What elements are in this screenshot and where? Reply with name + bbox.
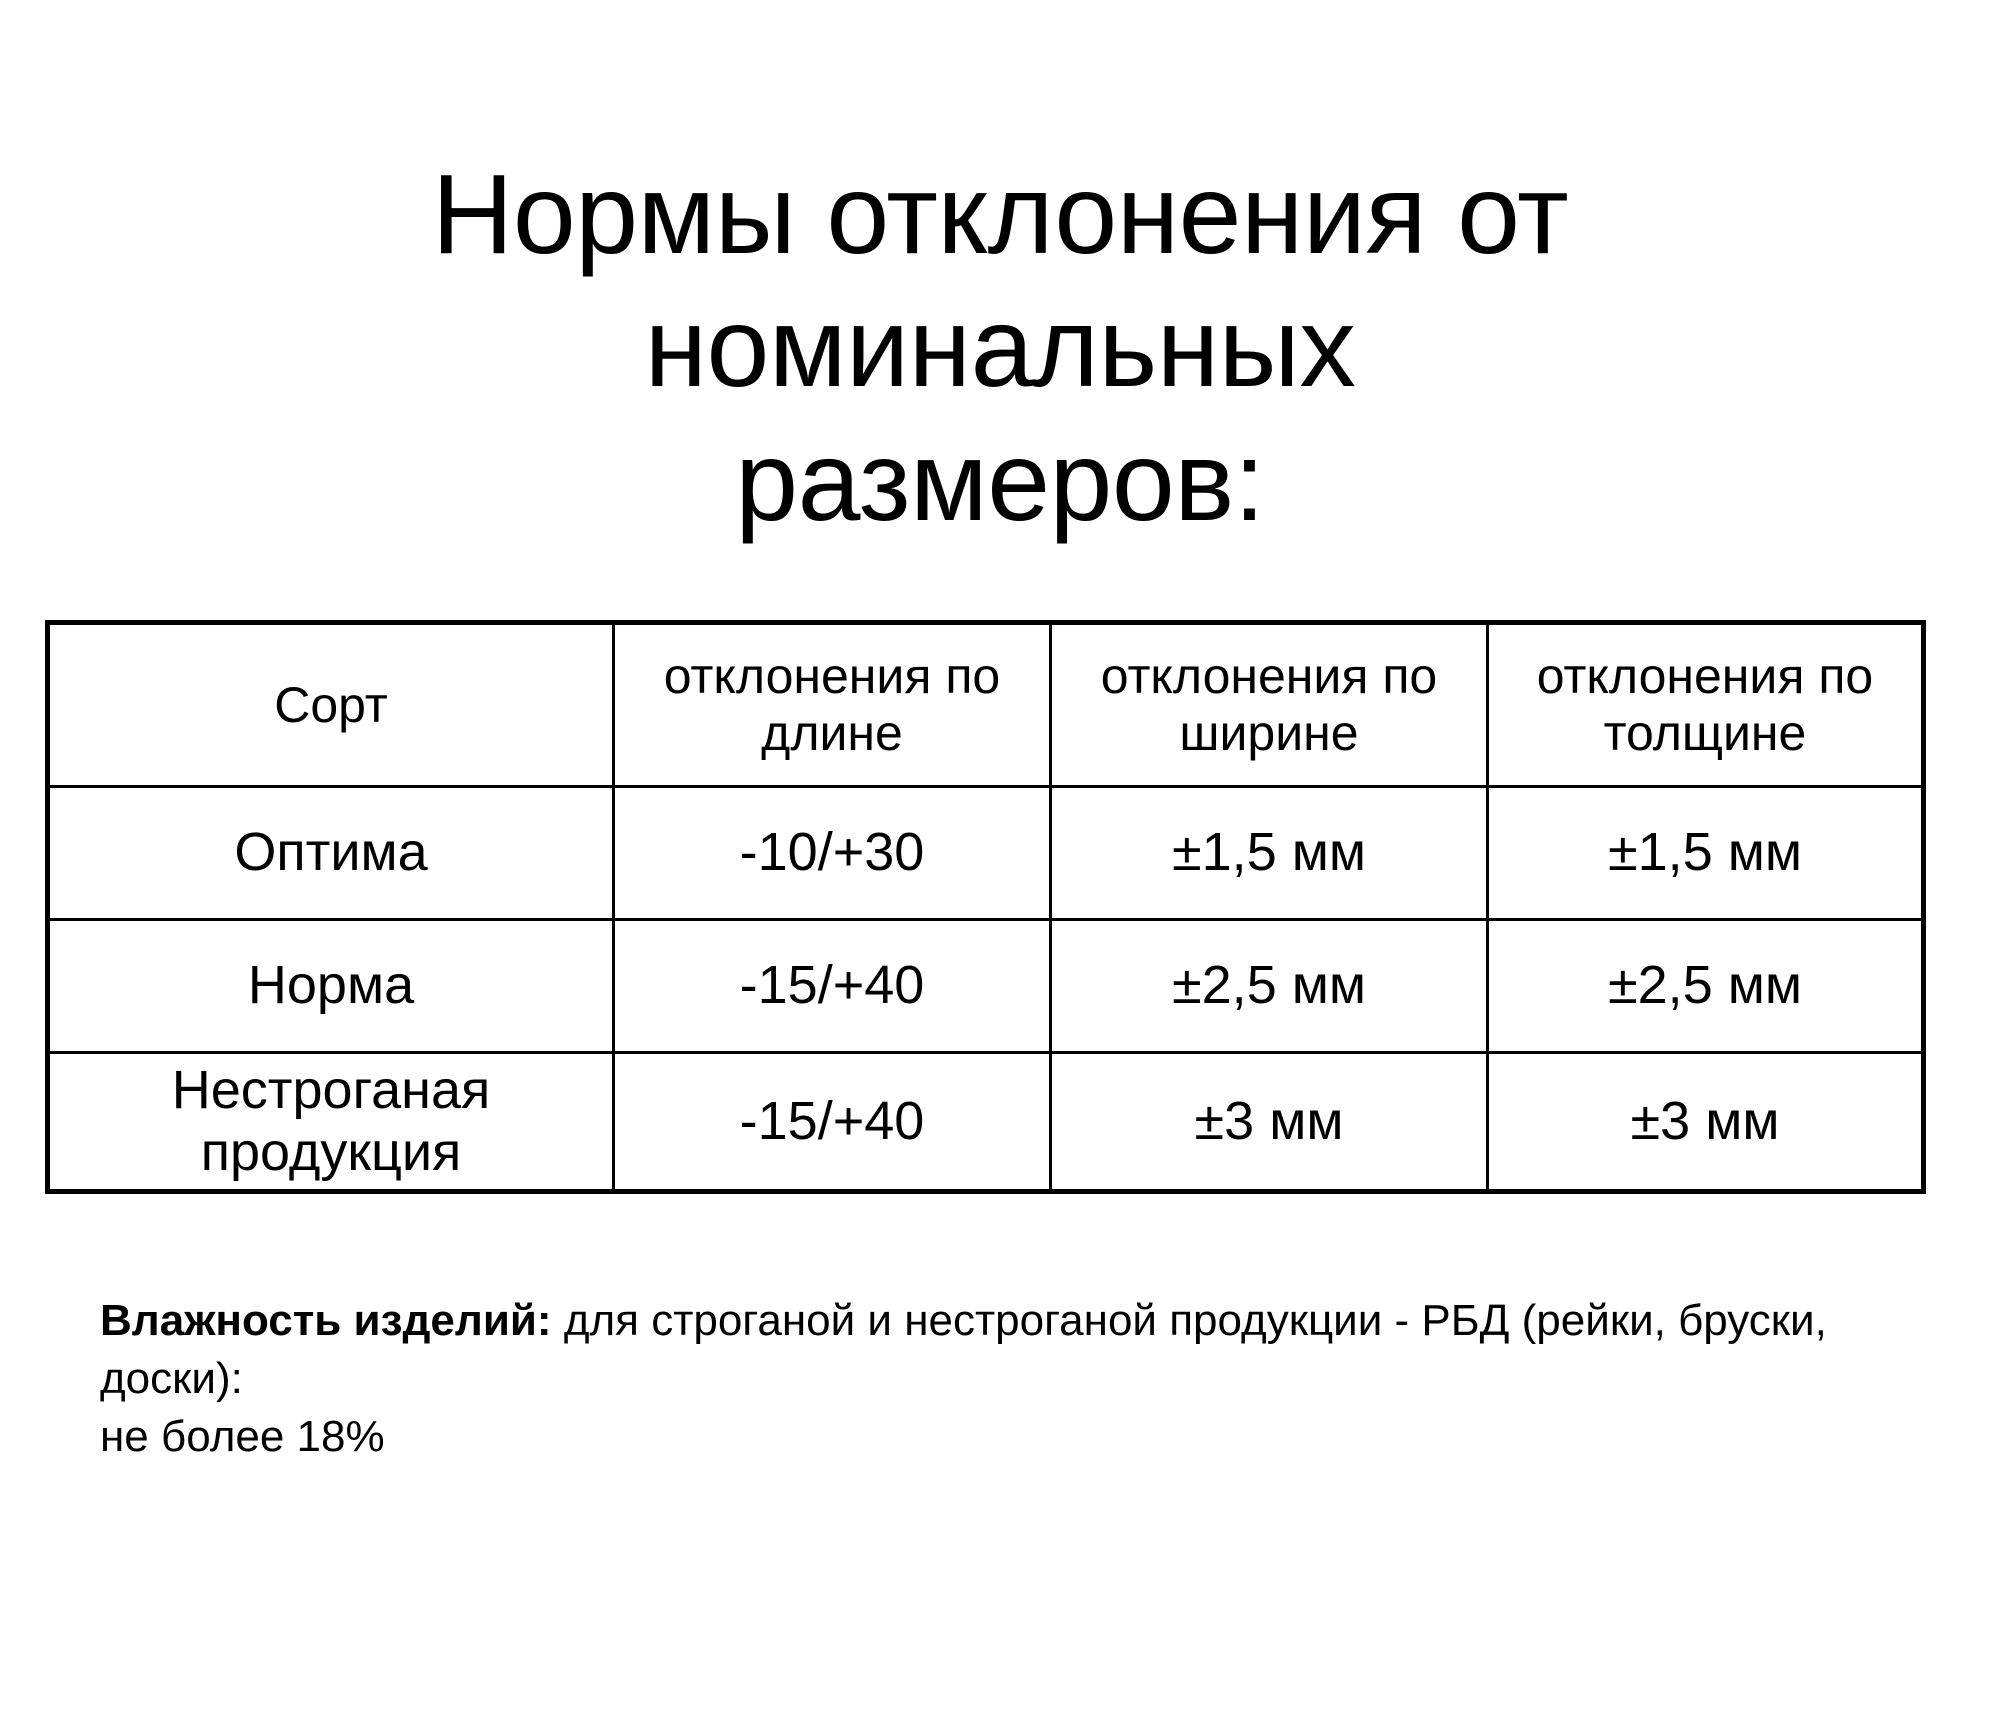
cell-width: ±3 мм — [1051, 1053, 1488, 1192]
length-value: -10/+30 — [623, 822, 1041, 884]
header-cell-thickness: отклонения по толщине — [1488, 623, 1924, 787]
norms-table-container: Сорт отклонения по длине отклонения по ш… — [45, 620, 1921, 1194]
cell-grade: Норма — [48, 920, 614, 1053]
moisture-note-value: не более 18% — [100, 1408, 1920, 1466]
header-width-label: отклонения по ширине — [1060, 648, 1478, 762]
header-cell-width: отклонения по ширине — [1051, 623, 1488, 787]
header-cell-length: отклонения по длине — [614, 623, 1051, 787]
table-row: Оптима -10/+30 ±1,5 мм ±1,5 мм — [48, 787, 1924, 920]
width-value: ±3 мм — [1060, 1091, 1478, 1153]
cell-thickness: ±2,5 мм — [1488, 920, 1924, 1053]
length-value: -15/+40 — [623, 1091, 1041, 1153]
grade-value: Норма — [58, 955, 604, 1017]
thickness-value: ±3 мм — [1497, 1091, 1913, 1153]
thickness-value: ±1,5 мм — [1497, 822, 1913, 884]
header-length-label: отклонения по длине — [623, 648, 1041, 762]
cell-length: -15/+40 — [614, 1053, 1051, 1192]
slide-canvas: Нормы отклонения от номинальных размеров… — [0, 0, 2000, 1726]
cell-grade: Оптима — [48, 787, 614, 920]
header-cell-grade: Сорт — [48, 623, 614, 787]
moisture-note-label: Влажность изделий: — [100, 1296, 552, 1345]
length-value: -15/+40 — [623, 955, 1041, 1017]
table-row: Норма -15/+40 ±2,5 мм ±2,5 мм — [48, 920, 1924, 1053]
table-row: Нестроганая продукция -15/+40 ±3 мм ±3 м… — [48, 1053, 1924, 1192]
grade-value: Нестроганая продукция — [58, 1060, 604, 1183]
thickness-value: ±2,5 мм — [1497, 955, 1913, 1017]
moisture-note: Влажность изделий: для строганой и нестр… — [100, 1292, 1920, 1466]
cell-width: ±1,5 мм — [1051, 787, 1488, 920]
cell-length: -15/+40 — [614, 920, 1051, 1053]
cell-thickness: ±1,5 мм — [1488, 787, 1924, 920]
deviation-norms-table: Сорт отклонения по длине отклонения по ш… — [45, 620, 1926, 1194]
header-grade-label: Сорт — [58, 677, 604, 734]
width-value: ±1,5 мм — [1060, 822, 1478, 884]
page-title: Нормы отклонения от номинальных размеров… — [100, 148, 1900, 548]
grade-value: Оптима — [58, 822, 604, 884]
width-value: ±2,5 мм — [1060, 955, 1478, 1017]
cell-width: ±2,5 мм — [1051, 920, 1488, 1053]
cell-thickness: ±3 мм — [1488, 1053, 1924, 1192]
cell-grade: Нестроганая продукция — [48, 1053, 614, 1192]
header-thickness-label: отклонения по толщине — [1497, 648, 1913, 762]
cell-length: -10/+30 — [614, 787, 1051, 920]
table-header-row: Сорт отклонения по длине отклонения по ш… — [48, 623, 1924, 787]
